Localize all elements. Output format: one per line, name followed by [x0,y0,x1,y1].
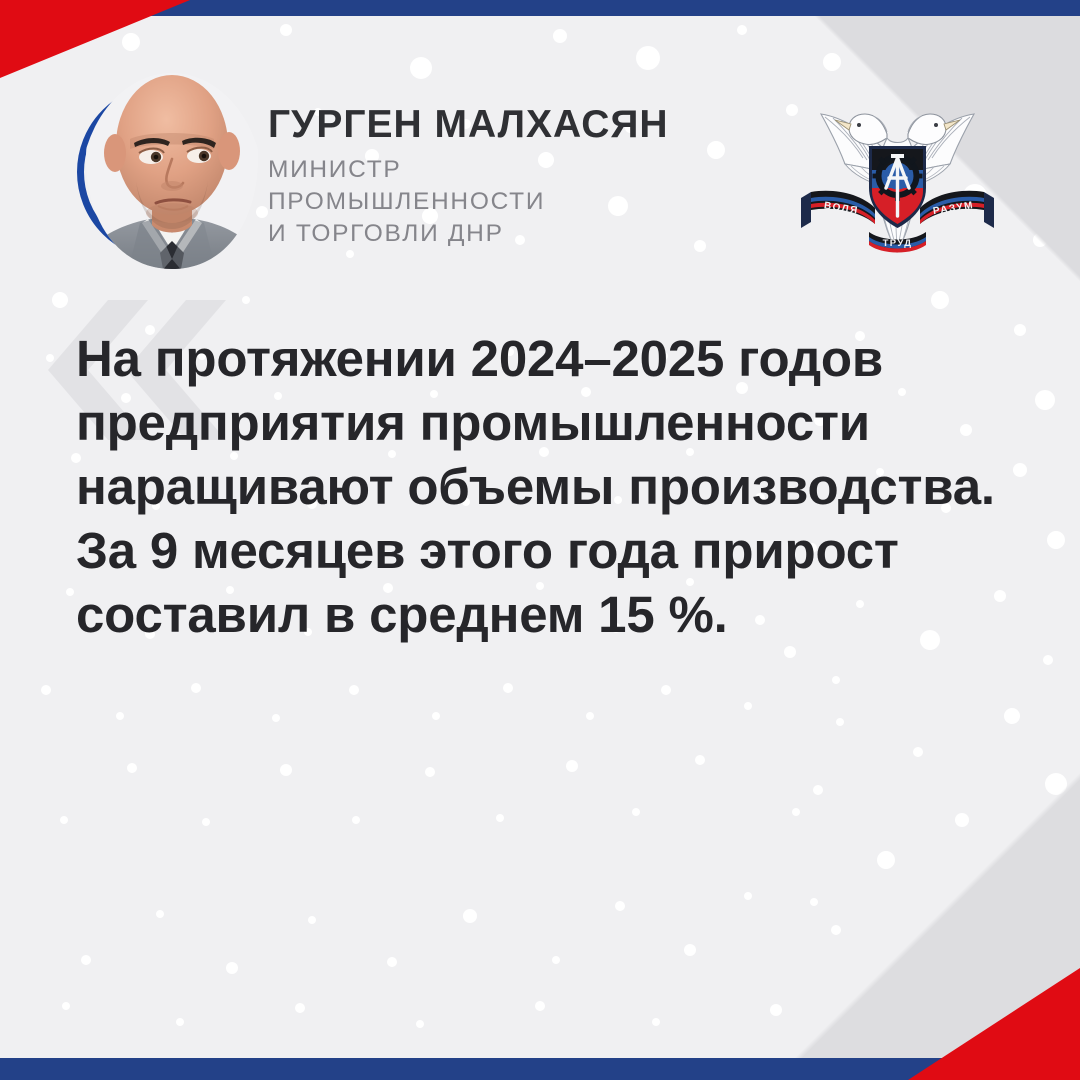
quote-line: На протяжении 2024–2025 годов [76,327,1036,391]
speaker-info: ГУРГЕН МАЛХАСЯН МИНИСТР ПРОМЫШЛЕННОСТИ И… [268,104,738,250]
quote-line: предприятия промышленности [76,391,1036,455]
top-left-red-triangle [0,0,190,78]
speaker-name: ГУРГЕН МАЛХАСЯН [268,104,738,145]
shield [869,146,926,228]
quote-line: За 9 месяцев этого года прирост [76,519,1036,583]
speaker-role-line-1: МИНИСТР [268,154,738,186]
ribbon-right: РАЗУМ [920,191,994,228]
speaker-role-line-3: И ТОРГОВЛИ ДНР [268,218,738,250]
ribbon-left: ВОЛЯ [801,191,875,228]
dnr-coat-of-arms-icon: ВОЛЯ РАЗУМ ТРУД [795,92,1000,267]
quote-line: наращивают объемы производства. [76,455,1036,519]
quote-text: На протяжении 2024–2025 годов предприяти… [76,327,1036,647]
bottom-right-red-triangle [908,968,1080,1080]
speaker-role-line-2: ПРОМЫШЛЕННОСТИ [268,186,738,218]
ribbon-motto-center: ТРУД [883,238,913,249]
quote-line: составил в среднем 15 %. [76,583,1036,647]
quote-card: ГУРГЕН МАЛХАСЯН МИНИСТР ПРОМЫШЛЕННОСТИ И… [0,0,1080,1080]
portrait-photo [80,73,264,285]
speaker-role: МИНИСТР ПРОМЫШЛЕННОСТИ И ТОРГОВЛИ ДНР [268,154,738,250]
avatar [77,84,253,260]
